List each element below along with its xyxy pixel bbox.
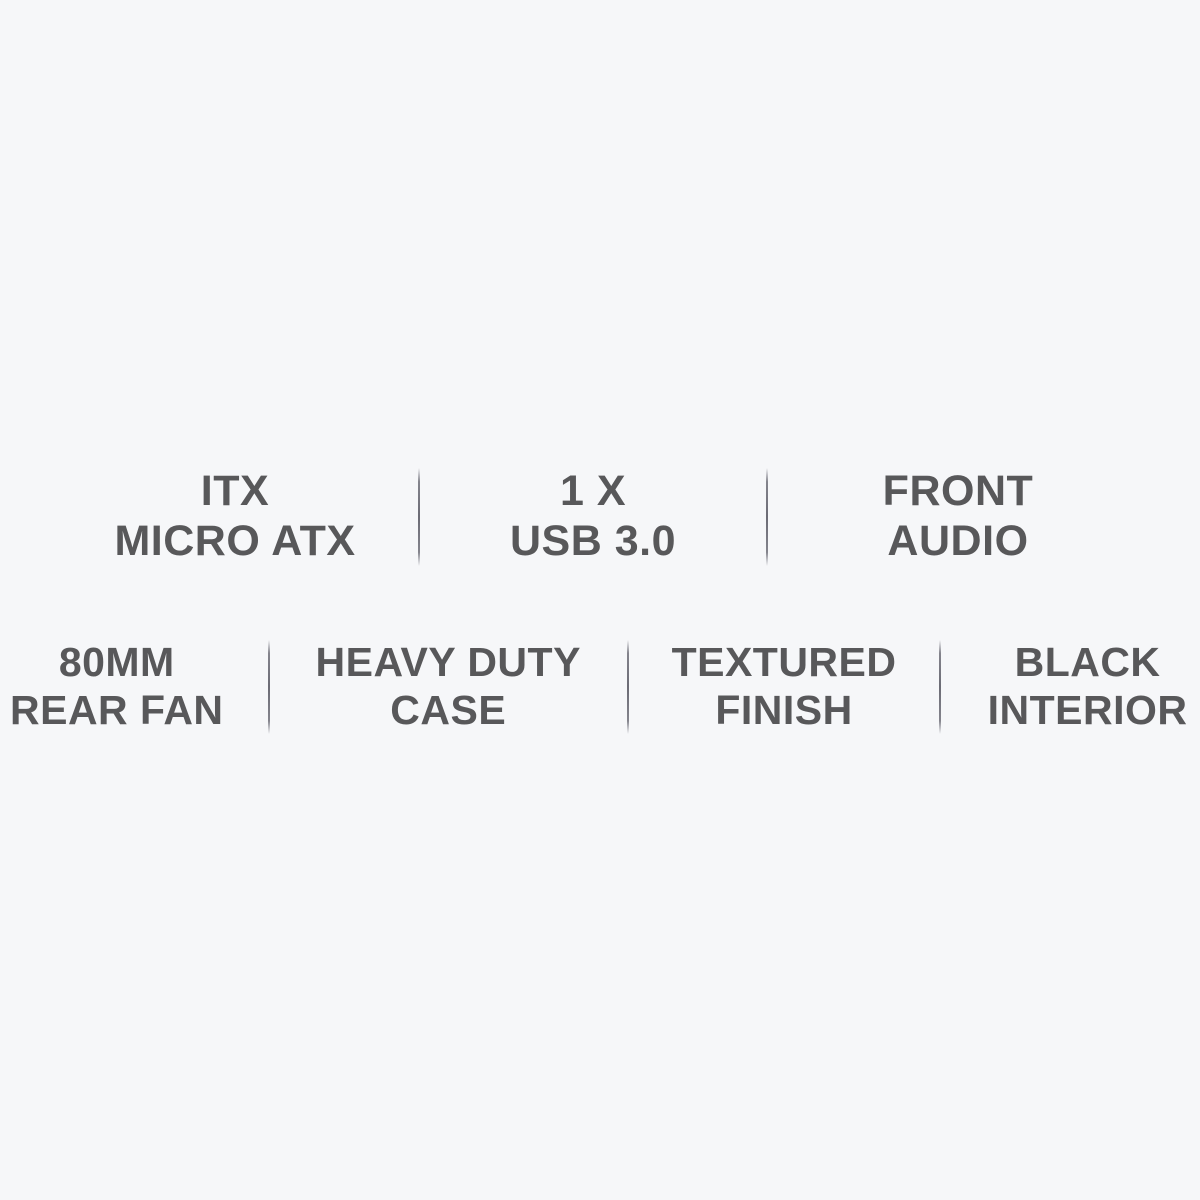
spec-line-secondary: INTERIOR <box>988 687 1188 735</box>
spec-line-secondary: CASE <box>390 687 506 735</box>
spec-row-primary: ITX MICRO ATX 1 X USB 3.0 FRONT AUDIO <box>0 462 1200 572</box>
spec-line-primary: BLACK <box>1015 639 1161 687</box>
vertical-divider-icon <box>939 640 941 734</box>
spec-item-case-build: HEAVY DUTY CASE <box>304 639 593 734</box>
spec-line-secondary: AUDIO <box>887 517 1028 567</box>
spec-item-motherboard-support: ITX MICRO ATX <box>86 467 384 567</box>
spec-line-primary: FRONT <box>883 467 1034 517</box>
product-spec-board: ITX MICRO ATX 1 X USB 3.0 FRONT AUDIO 80… <box>0 0 1200 1200</box>
spec-line-primary: ITX <box>201 467 269 517</box>
spec-line-secondary: USB 3.0 <box>510 517 676 567</box>
spec-item-front-audio: FRONT AUDIO <box>802 467 1114 567</box>
spec-line-primary: 80MM <box>59 639 175 687</box>
vertical-divider-icon <box>268 640 270 734</box>
spec-line-primary: HEAVY DUTY <box>316 639 581 687</box>
vertical-divider-icon <box>766 468 768 566</box>
spec-line-primary: 1 X <box>560 467 626 517</box>
vertical-divider-icon <box>627 640 629 734</box>
vertical-divider-icon <box>418 468 420 566</box>
spec-item-usb-ports: 1 X USB 3.0 <box>454 467 732 567</box>
spec-line-secondary: REAR FAN <box>10 687 224 735</box>
spec-item-interior-color: BLACK INTERIOR <box>975 639 1200 734</box>
spec-item-surface-finish: TEXTURED FINISH <box>663 639 905 734</box>
spec-item-rear-fan: 80MM REAR FAN <box>0 639 234 734</box>
spec-line-secondary: MICRO ATX <box>114 517 355 567</box>
spec-row-secondary: 80MM REAR FAN HEAVY DUTY CASE TEXTURED F… <box>0 632 1200 742</box>
spec-line-primary: TEXTURED <box>672 639 897 687</box>
spec-line-secondary: FINISH <box>715 687 852 735</box>
